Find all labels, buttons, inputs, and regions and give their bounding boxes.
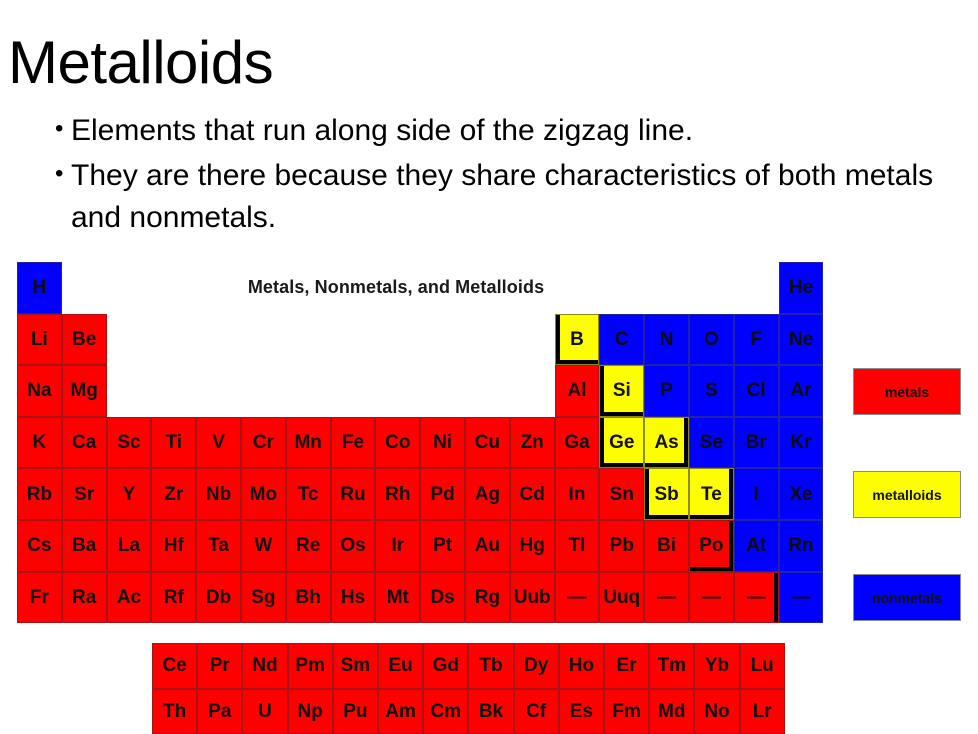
- element-symbol: U: [258, 702, 272, 721]
- element-cell-Ac: Ac: [107, 572, 152, 624]
- element-symbol: Pd: [430, 485, 454, 504]
- element-symbol: Mg: [70, 381, 97, 400]
- element-symbol: Ge: [609, 433, 634, 452]
- element-symbol: Bk: [479, 702, 503, 721]
- element-symbol: Lu: [751, 656, 774, 675]
- element-cell-Bk: Bk: [468, 689, 513, 734]
- element-symbol: W: [254, 536, 272, 555]
- element-cell-Au: Au: [465, 520, 510, 572]
- element-cell-Bi: Bi: [644, 520, 689, 572]
- element-cell-Po: Po: [689, 520, 734, 572]
- element-symbol: Te: [701, 485, 722, 504]
- element-cell-Kr: Kr: [779, 417, 824, 469]
- element-symbol: Tc: [298, 485, 319, 504]
- element-cell-Rg: Rg: [465, 572, 510, 624]
- element-cell-Th: Th: [152, 689, 197, 734]
- element-symbol: Uuq: [603, 588, 640, 607]
- element-cell-H: H: [17, 262, 62, 314]
- element-cell-Hs: Hs: [331, 572, 376, 624]
- element-symbol: La: [118, 536, 140, 555]
- periodic-table-main-grid: HHeLiBeBCNOFNeNaMgAlSiPSClArKCaScTiVCrMn…: [17, 262, 823, 623]
- element-symbol: Hg: [520, 536, 545, 555]
- element-cell-Ra: Ra: [62, 572, 107, 624]
- element-symbol: Pa: [208, 702, 231, 721]
- element-cell-I: I: [734, 468, 779, 520]
- element-cell-As: As: [644, 417, 689, 469]
- element-symbol: Yb: [705, 656, 729, 675]
- element-symbol: Li: [31, 330, 48, 349]
- element-symbol: Ir: [391, 536, 404, 555]
- element-cell-Tc: Tc: [286, 468, 331, 520]
- element-cell-V: V: [196, 417, 241, 469]
- element-cell-Be: Be: [62, 314, 107, 366]
- element-symbol: At: [746, 536, 766, 555]
- element-cell-Tb: Tb: [468, 643, 513, 689]
- element-cell-Ce: Ce: [152, 643, 197, 689]
- element-cell-Uub: Uub: [510, 572, 555, 624]
- element-cell-Dy: Dy: [514, 643, 559, 689]
- element-cell-Zr: Zr: [151, 468, 196, 520]
- bullet-marker-icon: •: [55, 155, 71, 193]
- legend-item-metals: metals: [853, 368, 961, 415]
- element-symbol: Zr: [164, 485, 183, 504]
- element-cell-Eu: Eu: [378, 643, 423, 689]
- element-symbol: Ru: [340, 485, 365, 504]
- element-symbol: Lr: [753, 702, 772, 721]
- element-cell-Na: Na: [17, 365, 62, 417]
- element-cell-Am: Am: [378, 689, 423, 734]
- element-symbol: Pt: [433, 536, 452, 555]
- element-cell-He: He: [779, 262, 824, 314]
- element-symbol: Ac: [117, 588, 141, 607]
- element-symbol: Er: [617, 656, 637, 675]
- bullet-marker-icon: •: [55, 110, 71, 148]
- element-cell-Pm: Pm: [288, 643, 333, 689]
- element-cell-S: S: [689, 365, 734, 417]
- list-item: • They are there because they share char…: [55, 155, 960, 240]
- element-symbol: Re: [296, 536, 320, 555]
- element-cell-Yb: Yb: [694, 643, 739, 689]
- element-cell-Br: Br: [734, 417, 779, 469]
- element-symbol: Au: [475, 536, 500, 555]
- list-item: • Elements that run along side of the zi…: [55, 110, 960, 153]
- legend-label: metals: [885, 384, 929, 400]
- element-cell-Uuq: Uuq: [599, 572, 644, 624]
- element-symbol: Pb: [610, 536, 634, 555]
- element-cell-Sn: Sn: [599, 468, 644, 520]
- element-cell-Sg: Sg: [241, 572, 286, 624]
- element-symbol: Cm: [430, 702, 461, 721]
- element-cell-Mt: Mt: [375, 572, 420, 624]
- element-cell-Pu: Pu: [333, 689, 378, 734]
- element-symbol: P: [660, 381, 673, 400]
- element-cell-Ge: Ge: [599, 417, 644, 469]
- legend-label: nonmetals: [872, 590, 942, 606]
- element-cell-Li: Li: [17, 314, 62, 366]
- element-cell-Er: Er: [604, 643, 649, 689]
- element-symbol: In: [569, 485, 586, 504]
- element-cell-Pt: Pt: [420, 520, 465, 572]
- element-symbol: Os: [340, 536, 365, 555]
- element-symbol: I: [754, 485, 759, 504]
- legend-item-metalloids: metalloids: [853, 471, 961, 518]
- element-cell-Sc: Sc: [107, 417, 152, 469]
- element-cell-Os: Os: [331, 520, 376, 572]
- element-symbol: Bi: [657, 536, 676, 555]
- element-cell-Nd: Nd: [242, 643, 287, 689]
- element-cell-Rh: Rh: [375, 468, 420, 520]
- element-cell-Si: Si: [599, 365, 644, 417]
- element-cell-Tl: Tl: [555, 520, 600, 572]
- element-symbol: Ds: [430, 588, 454, 607]
- element-symbol: Pu: [343, 702, 367, 721]
- element-cell-W: W: [241, 520, 286, 572]
- element-symbol: V: [212, 433, 225, 452]
- element-symbol: Db: [206, 588, 231, 607]
- element-symbol: Hf: [164, 536, 184, 555]
- element-cell-Te: Te: [689, 468, 734, 520]
- element-symbol: Cr: [253, 433, 274, 452]
- element-symbol: Bh: [296, 588, 321, 607]
- element-symbol: Ba: [72, 536, 96, 555]
- element-symbol: Cl: [747, 381, 766, 400]
- element-cell-Ru: Ru: [331, 468, 376, 520]
- element-symbol: Ar: [790, 381, 811, 400]
- page-title: Metalloids: [8, 33, 273, 93]
- element-symbol: Md: [658, 702, 685, 721]
- element-cell-Ga: Ga: [555, 417, 600, 469]
- element-cell-—: —: [779, 572, 824, 624]
- element-cell-Pb: Pb: [599, 520, 644, 572]
- element-cell-Lr: Lr: [740, 689, 785, 734]
- element-symbol: As: [654, 433, 678, 452]
- element-symbol: Gd: [433, 656, 459, 675]
- element-symbol: Cu: [475, 433, 500, 452]
- element-cell-Pa: Pa: [197, 689, 242, 734]
- element-cell-Zn: Zn: [510, 417, 555, 469]
- element-symbol: Pr: [210, 656, 230, 675]
- element-cell-Ar: Ar: [779, 365, 824, 417]
- element-cell-Rb: Rb: [17, 468, 62, 520]
- element-symbol: —: [657, 588, 676, 607]
- element-cell-Rf: Rf: [151, 572, 196, 624]
- element-cell-Mo: Mo: [241, 468, 286, 520]
- element-cell-Cd: Cd: [510, 468, 555, 520]
- element-cell-F: F: [734, 314, 779, 366]
- element-symbol: Sg: [251, 588, 275, 607]
- element-cell-Fr: Fr: [17, 572, 62, 624]
- element-symbol: He: [789, 278, 813, 297]
- element-cell-Tm: Tm: [649, 643, 694, 689]
- element-cell-—: —: [734, 572, 779, 624]
- element-cell-Cr: Cr: [241, 417, 286, 469]
- element-symbol: Zn: [521, 433, 544, 452]
- element-symbol: Al: [567, 381, 586, 400]
- element-cell-—: —: [555, 572, 600, 624]
- element-symbol: Ra: [72, 588, 96, 607]
- element-cell-Pr: Pr: [197, 643, 242, 689]
- element-symbol: —: [747, 588, 766, 607]
- element-symbol: Ca: [72, 433, 96, 452]
- element-symbol: Rg: [475, 588, 500, 607]
- element-symbol: Hs: [341, 588, 365, 607]
- element-symbol: Ti: [166, 433, 183, 452]
- element-cell-Md: Md: [649, 689, 694, 734]
- element-symbol: Y: [123, 485, 136, 504]
- element-symbol: Dy: [524, 656, 548, 675]
- element-symbol: Kr: [790, 433, 811, 452]
- element-cell-Fe: Fe: [331, 417, 376, 469]
- element-cell-In: In: [555, 468, 600, 520]
- element-symbol: S: [705, 381, 718, 400]
- element-symbol: Rb: [27, 485, 52, 504]
- element-symbol: Po: [699, 536, 723, 555]
- element-cell-P: P: [644, 365, 689, 417]
- element-cell-Ba: Ba: [62, 520, 107, 572]
- element-cell-Ho: Ho: [559, 643, 604, 689]
- element-cell-K: K: [17, 417, 62, 469]
- element-cell-C: C: [599, 314, 644, 366]
- element-symbol: Pm: [295, 656, 325, 675]
- element-symbol: Se: [700, 433, 723, 452]
- element-symbol: B: [570, 330, 584, 349]
- periodic-table-fblock-grid: CePrNdPmSmEuGdTbDyHoErTmYbLuThPaUNpPuAmC…: [152, 643, 785, 734]
- element-cell-—: —: [644, 572, 689, 624]
- element-symbol: Mn: [294, 433, 321, 452]
- element-cell-Ir: Ir: [375, 520, 420, 572]
- element-symbol: F: [750, 330, 762, 349]
- element-cell-Al: Al: [555, 365, 600, 417]
- element-cell-Mg: Mg: [62, 365, 107, 417]
- element-cell-Cl: Cl: [734, 365, 779, 417]
- element-symbol: Rh: [385, 485, 410, 504]
- element-symbol: C: [615, 330, 629, 349]
- element-symbol: Rn: [788, 536, 813, 555]
- element-cell-Cs: Cs: [17, 520, 62, 572]
- element-symbol: Es: [570, 702, 593, 721]
- element-cell-Db: Db: [196, 572, 241, 624]
- element-symbol: —: [702, 588, 721, 607]
- element-cell-Xe: Xe: [779, 468, 824, 520]
- element-cell-Se: Se: [689, 417, 734, 469]
- element-symbol: Rf: [164, 588, 184, 607]
- element-symbol: Th: [163, 702, 186, 721]
- element-symbol: —: [791, 588, 810, 607]
- element-symbol: Ta: [208, 536, 229, 555]
- element-symbol: Sc: [117, 433, 140, 452]
- element-symbol: K: [33, 433, 47, 452]
- element-symbol: Nb: [206, 485, 231, 504]
- element-symbol: Si: [613, 381, 631, 400]
- element-cell-Pd: Pd: [420, 468, 465, 520]
- element-symbol: No: [704, 702, 729, 721]
- element-cell-Ag: Ag: [465, 468, 510, 520]
- element-symbol: Fr: [30, 588, 49, 607]
- element-cell-At: At: [734, 520, 779, 572]
- element-cell-Cf: Cf: [514, 689, 559, 734]
- element-cell-Fm: Fm: [604, 689, 649, 734]
- legend-label: metalloids: [872, 487, 941, 503]
- element-symbol: Sb: [654, 485, 678, 504]
- element-symbol: Fm: [612, 702, 641, 721]
- element-symbol: Sm: [341, 656, 371, 675]
- element-cell-Sr: Sr: [62, 468, 107, 520]
- element-symbol: Na: [27, 381, 51, 400]
- element-symbol: Br: [746, 433, 767, 452]
- element-cell-Gd: Gd: [423, 643, 468, 689]
- element-symbol: Ce: [162, 656, 186, 675]
- element-symbol: Fe: [342, 433, 364, 452]
- element-cell-Ni: Ni: [420, 417, 465, 469]
- element-cell-Ta: Ta: [196, 520, 241, 572]
- element-cell-Hf: Hf: [151, 520, 196, 572]
- element-symbol: Sn: [610, 485, 634, 504]
- element-symbol: Sr: [74, 485, 94, 504]
- element-symbol: Np: [298, 702, 323, 721]
- element-symbol: —: [567, 588, 586, 607]
- element-cell-Cm: Cm: [423, 689, 468, 734]
- element-symbol: Eu: [388, 656, 412, 675]
- bullet-text: They are there because they share charac…: [71, 155, 960, 240]
- bullet-text: Elements that run along side of the zigz…: [71, 110, 960, 153]
- element-symbol: Ga: [564, 433, 589, 452]
- element-cell-Nb: Nb: [196, 468, 241, 520]
- element-cell-Ds: Ds: [420, 572, 465, 624]
- element-symbol: Ne: [789, 330, 813, 349]
- element-symbol: Uub: [514, 588, 551, 607]
- element-symbol: Cf: [526, 702, 546, 721]
- element-cell-Cu: Cu: [465, 417, 510, 469]
- element-cell-N: N: [644, 314, 689, 366]
- legend-item-nonmetals: nonmetals: [853, 574, 961, 621]
- element-cell-Bh: Bh: [286, 572, 331, 624]
- periodic-table-figure: Metals, Nonmetals, and Metalloids HHeLiB…: [0, 252, 978, 734]
- element-symbol: Tl: [569, 536, 586, 555]
- element-symbol: Mt: [387, 588, 409, 607]
- element-symbol: Tm: [658, 656, 687, 675]
- element-cell-Ti: Ti: [151, 417, 196, 469]
- element-cell-Rn: Rn: [779, 520, 824, 572]
- element-symbol: Tb: [479, 656, 502, 675]
- element-symbol: N: [660, 330, 674, 349]
- element-symbol: Xe: [789, 485, 812, 504]
- element-cell-La: La: [107, 520, 152, 572]
- element-symbol: Cd: [520, 485, 545, 504]
- element-symbol: Cs: [27, 536, 51, 555]
- element-cell-—: —: [689, 572, 734, 624]
- element-cell-Lu: Lu: [740, 643, 785, 689]
- element-symbol: H: [33, 278, 47, 297]
- element-cell-Co: Co: [375, 417, 420, 469]
- element-symbol: Ag: [475, 485, 500, 504]
- element-cell-Sb: Sb: [644, 468, 689, 520]
- element-symbol: Am: [385, 702, 416, 721]
- element-symbol: Co: [385, 433, 410, 452]
- element-symbol: O: [704, 330, 719, 349]
- element-cell-Sm: Sm: [333, 643, 378, 689]
- element-symbol: Mo: [250, 485, 277, 504]
- element-symbol: Nd: [252, 656, 277, 675]
- element-cell-No: No: [694, 689, 739, 734]
- element-cell-B: B: [555, 314, 600, 366]
- element-cell-Es: Es: [559, 689, 604, 734]
- element-symbol: Ho: [569, 656, 594, 675]
- element-cell-U: U: [242, 689, 287, 734]
- element-cell-O: O: [689, 314, 734, 366]
- element-symbol: Ni: [433, 433, 452, 452]
- element-cell-Y: Y: [107, 468, 152, 520]
- element-cell-Hg: Hg: [510, 520, 555, 572]
- element-cell-Ne: Ne: [779, 314, 824, 366]
- element-cell-Mn: Mn: [286, 417, 331, 469]
- element-cell-Np: Np: [288, 689, 333, 734]
- element-cell-Ca: Ca: [62, 417, 107, 469]
- element-symbol: Be: [72, 330, 96, 349]
- bullet-list: • Elements that run along side of the zi…: [55, 110, 960, 242]
- element-cell-Re: Re: [286, 520, 331, 572]
